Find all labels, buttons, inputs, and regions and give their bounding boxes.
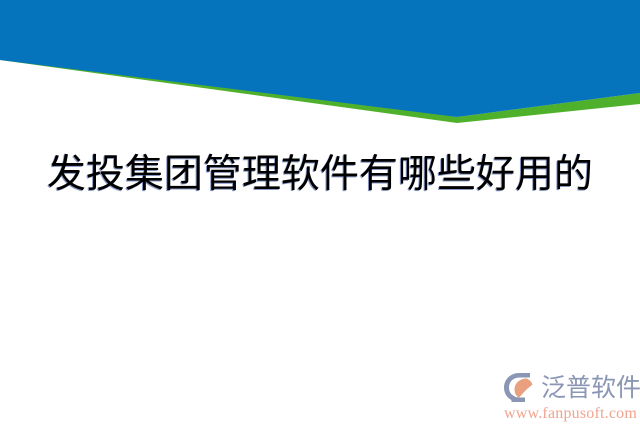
brand-url: www.fanpusoft.com [504, 405, 638, 423]
brand-logo: 泛普软件 www.fanpusoft.com [502, 371, 638, 421]
banner-green-band [0, 49, 640, 123]
page-title: 发投集团管理软件有哪些好用的 [0, 152, 640, 198]
fanpu-logo-mark-icon [502, 372, 539, 403]
page-title-text: 发投集团管理软件有哪些好用的 [47, 152, 593, 198]
banner-blue-body [0, 0, 640, 117]
slide-canvas: 发投集团管理软件有哪些好用的 泛普软件 www.fanpusoft.com [0, 0, 640, 427]
brand-logo-row: 泛普软件 [502, 371, 638, 404]
chevron-banner [0, 0, 640, 130]
brand-name: 泛普软件 [541, 374, 640, 402]
